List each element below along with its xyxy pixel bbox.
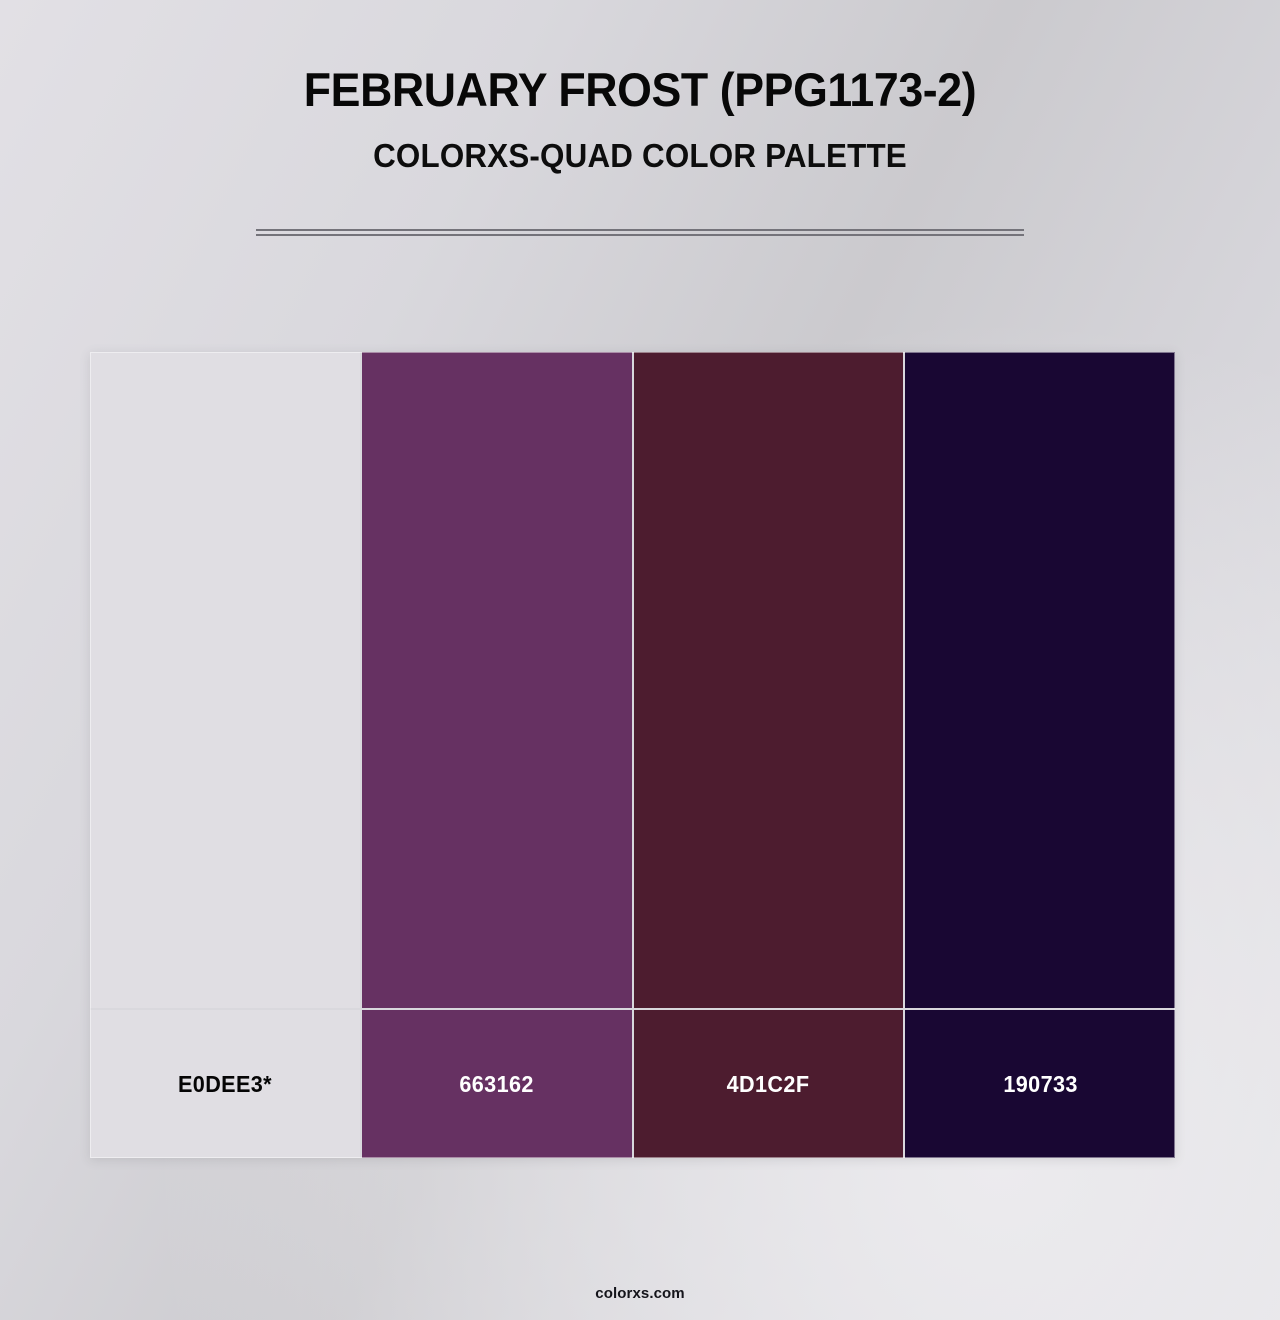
color-swatch-block[interactable] [634,352,904,1008]
color-palette-panel: E0DEE3*6631624D1C2F190733 [90,352,1175,1158]
color-swatch-label-cell[interactable]: 663162 [362,1010,632,1158]
color-swatch-block[interactable] [905,352,1175,1008]
color-hex-label: 663162 [459,1071,533,1098]
color-swatch-column[interactable]: 663162 [362,352,632,1158]
color-hex-label: E0DEE3* [178,1071,272,1098]
color-swatch-block[interactable] [90,352,360,1008]
color-swatch-label-cell[interactable]: 4D1C2F [634,1010,904,1158]
color-swatch-label-cell[interactable]: E0DEE3* [90,1010,360,1158]
header-divider [256,229,1024,237]
color-hex-label: 190733 [1003,1071,1077,1098]
color-hex-label: 4D1C2F [727,1071,810,1098]
color-swatch-label-cell[interactable]: 190733 [905,1010,1175,1158]
color-swatch-column[interactable]: E0DEE3* [90,352,360,1158]
color-swatch-column[interactable]: 190733 [905,352,1175,1158]
footer-site-label: colorxs.com [0,1285,1280,1302]
page-title: FEBRUARY FROST (PPG1173-2) [32,66,1248,113]
page-subtitle: COLORXS-QUAD COLOR PALETTE [32,139,1248,172]
palette-page: FEBRUARY FROST (PPG1173-2) COLORXS-QUAD … [0,0,1280,1320]
divider-line-top [256,229,1024,231]
divider-line-bottom [256,234,1024,236]
color-swatch-column[interactable]: 4D1C2F [634,352,904,1158]
color-swatch-block[interactable] [362,352,632,1008]
page-header: FEBRUARY FROST (PPG1173-2) COLORXS-QUAD … [0,66,1280,172]
